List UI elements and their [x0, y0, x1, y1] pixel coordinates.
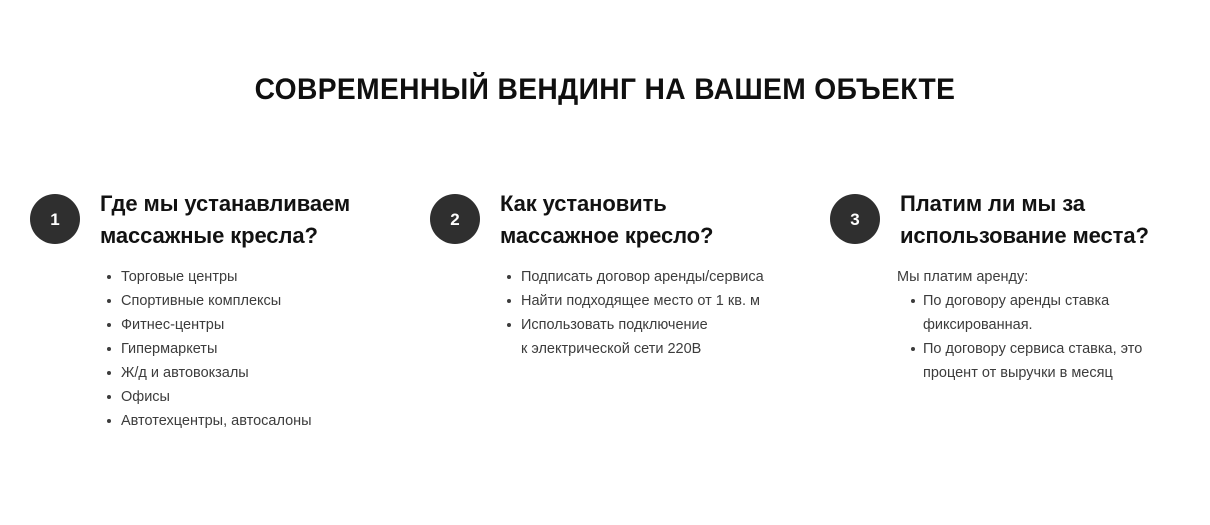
list-item-line-1: Автотехцентры, автосалоны [121, 409, 400, 433]
list-item: Подписать договор аренды/сервиса [497, 265, 800, 289]
step-number-badge-1: 1 [30, 194, 80, 244]
faq-column-1-body: Торговые центры Спортивные комплексы Фит… [97, 265, 400, 433]
heading-line-1: Где мы устанавливаем [100, 188, 400, 220]
list-item-line-1: По договору сервиса ставка, это [923, 337, 1190, 361]
list-item-line-1: Офисы [121, 385, 400, 409]
faq-column-2-body: Подписать договор аренды/сервиса Найти п… [497, 265, 800, 361]
list-item-line-1: Торговые центры [121, 265, 400, 289]
list-item: Использовать подключение к электрической… [497, 313, 800, 361]
list-item: Найти подходящее место от 1 кв. м [497, 289, 800, 313]
list-item: Фитнес-центры [97, 313, 400, 337]
faq-column-2-heading: Как установить массажное кресло? [500, 188, 800, 252]
page-title: СОВРЕМЕННЫЙ ВЕНДИНГ НА ВАШЕМ ОБЪЕКТЕ [36, 72, 1173, 108]
list-item: Офисы [97, 385, 400, 409]
list-item-line-2: процент от выручки в месяц [923, 361, 1190, 385]
faq-column-3-heading: Платим ли мы за использование места? [900, 188, 1190, 252]
heading-line-2: массажные кресла? [100, 220, 400, 252]
list-item-line-1: Гипермаркеты [121, 337, 400, 361]
faq-column-1-header: 1 Где мы устанавливаем массажные кресла? [30, 188, 400, 252]
list-item: Торговые центры [97, 265, 400, 289]
faq-column-3-body: Мы платим аренду: По договору аренды ста… [897, 265, 1190, 385]
step-number-badge-3: 3 [830, 194, 880, 244]
list-item: По договору аренды ставка фиксированная. [897, 289, 1190, 337]
list-item-line-2: к электрической сети 220В [521, 337, 800, 361]
list-item-line-1: По договору аренды ставка [923, 289, 1190, 313]
faq-column-1-heading: Где мы устанавливаем массажные кресла? [100, 188, 400, 252]
list-item-line-1: Использовать подключение [521, 313, 800, 337]
faq-column-1: 1 Где мы устанавливаем массажные кресла?… [30, 188, 400, 433]
heading-line-2: массажное кресло? [500, 220, 800, 252]
list-item: Спортивные комплексы [97, 289, 400, 313]
step-number-badge-2: 2 [430, 194, 480, 244]
faq-column-2: 2 Как установить массажное кресло? Подпи… [430, 188, 800, 361]
list-item: Автотехцентры, автосалоны [97, 409, 400, 433]
list-item-line-1: Спортивные комплексы [121, 289, 400, 313]
faq-column-3: 3 Платим ли мы за использование места? М… [830, 188, 1190, 385]
heading-line-1: Платим ли мы за [900, 188, 1190, 220]
list-item-line-1: Ж/д и автовокзалы [121, 361, 400, 385]
list-item-line-1: Подписать договор аренды/сервиса [521, 265, 800, 289]
list-item-line-1: Фитнес-центры [121, 313, 400, 337]
faq-columns: 1 Где мы устанавливаем массажные кресла?… [0, 188, 1210, 488]
faq-column-3-list: По договору аренды ставка фиксированная.… [897, 289, 1190, 385]
page-root: СОВРЕМЕННЫЙ ВЕНДИНГ НА ВАШЕМ ОБЪЕКТЕ 1 Г… [0, 0, 1210, 525]
faq-column-2-list: Подписать договор аренды/сервиса Найти п… [497, 265, 800, 361]
faq-column-2-header: 2 Как установить массажное кресло? [430, 188, 800, 252]
list-item: Ж/д и автовокзалы [97, 361, 400, 385]
list-item-line-2: фиксированная. [923, 313, 1190, 337]
list-item: По договору сервиса ставка, это процент … [897, 337, 1190, 385]
faq-column-1-list: Торговые центры Спортивные комплексы Фит… [97, 265, 400, 433]
heading-line-1: Как установить [500, 188, 800, 220]
faq-column-3-intro: Мы платим аренду: [897, 265, 1190, 289]
heading-line-2: использование места? [900, 220, 1190, 252]
faq-column-3-header: 3 Платим ли мы за использование места? [830, 188, 1190, 252]
list-item-line-1: Найти подходящее место от 1 кв. м [521, 289, 800, 313]
list-item: Гипермаркеты [97, 337, 400, 361]
